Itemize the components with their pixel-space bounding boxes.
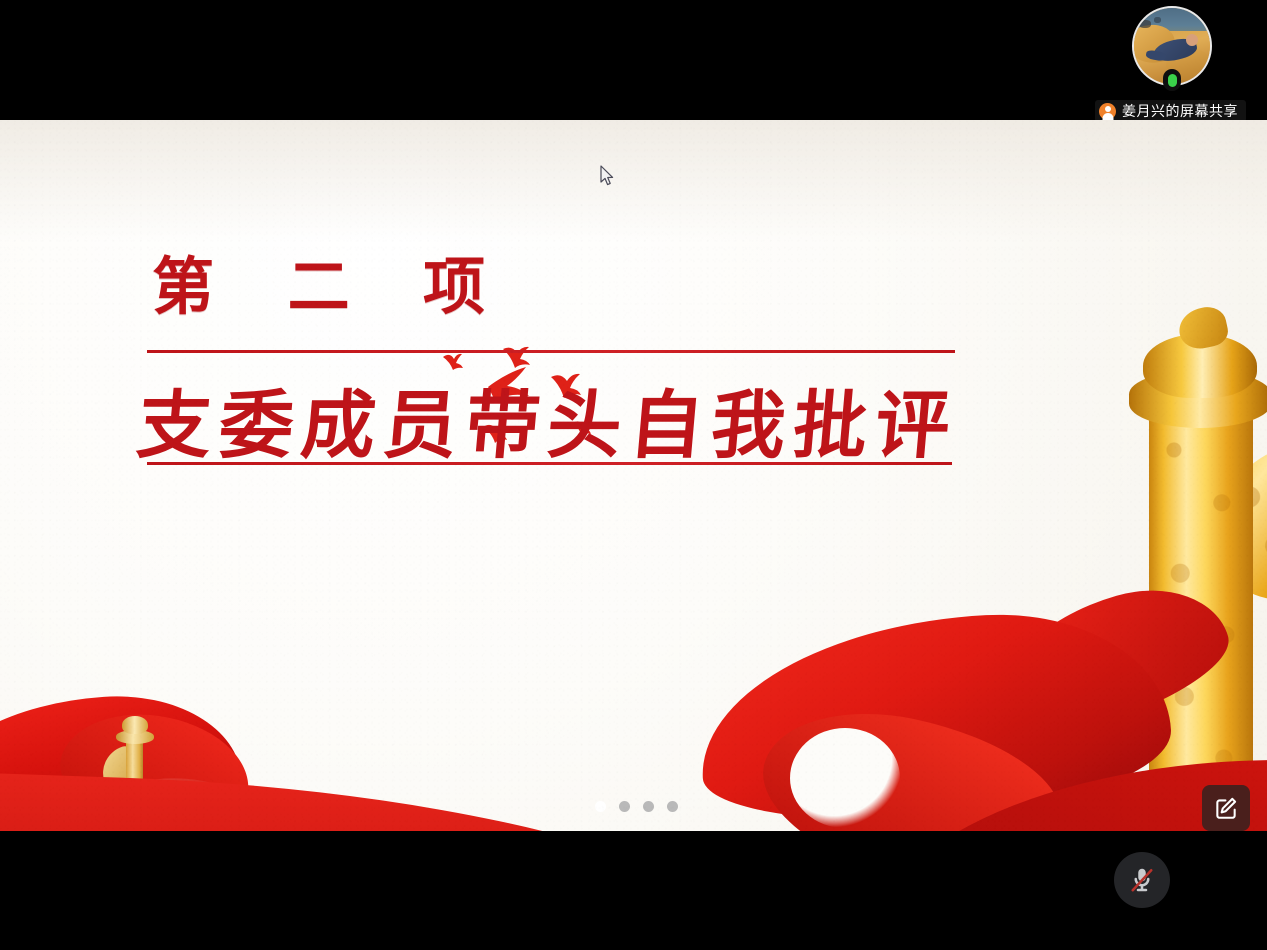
pagination-dot-3[interactable] xyxy=(643,801,654,812)
headline-rule-bottom xyxy=(147,462,952,465)
slide-headline: 支委成员带头自我批评 xyxy=(133,366,972,473)
avatar-distant-shape-1 xyxy=(1139,20,1151,28)
mic-active-green-icon xyxy=(1163,69,1181,91)
annotate-button[interactable] xyxy=(1202,785,1250,831)
person-avatar-icon xyxy=(1099,103,1116,120)
pagination-dot-1[interactable] xyxy=(595,801,606,812)
red-ribbon-notch xyxy=(790,728,900,828)
shared-slide: 第 二 项 支委成员带头自我批评 xyxy=(0,120,1267,831)
screen-share-window: 姜月兴的屏幕共享 xyxy=(0,0,1267,950)
avatar-distant-shape-2 xyxy=(1154,17,1161,23)
avatar-person-head xyxy=(1186,34,1198,46)
slide-top-gradient xyxy=(0,120,1267,240)
slide-kicker: 第 二 项 xyxy=(152,236,511,326)
screen-share-label: 姜月兴的屏幕共享 xyxy=(1095,100,1246,122)
pagination-dot-2[interactable] xyxy=(619,801,630,812)
pagination-dot-4[interactable] xyxy=(667,801,678,812)
screen-share-label-text: 姜月兴的屏幕共享 xyxy=(1122,104,1238,118)
huabiao-small-bowl xyxy=(122,716,148,734)
mic-muted-icon xyxy=(1127,865,1157,895)
annotate-pen-icon xyxy=(1213,795,1239,821)
headline-rule-top xyxy=(147,350,955,353)
mute-toggle-button[interactable] xyxy=(1114,852,1170,908)
arrow-cursor-icon xyxy=(599,165,615,187)
slide-pagination[interactable] xyxy=(595,801,678,812)
